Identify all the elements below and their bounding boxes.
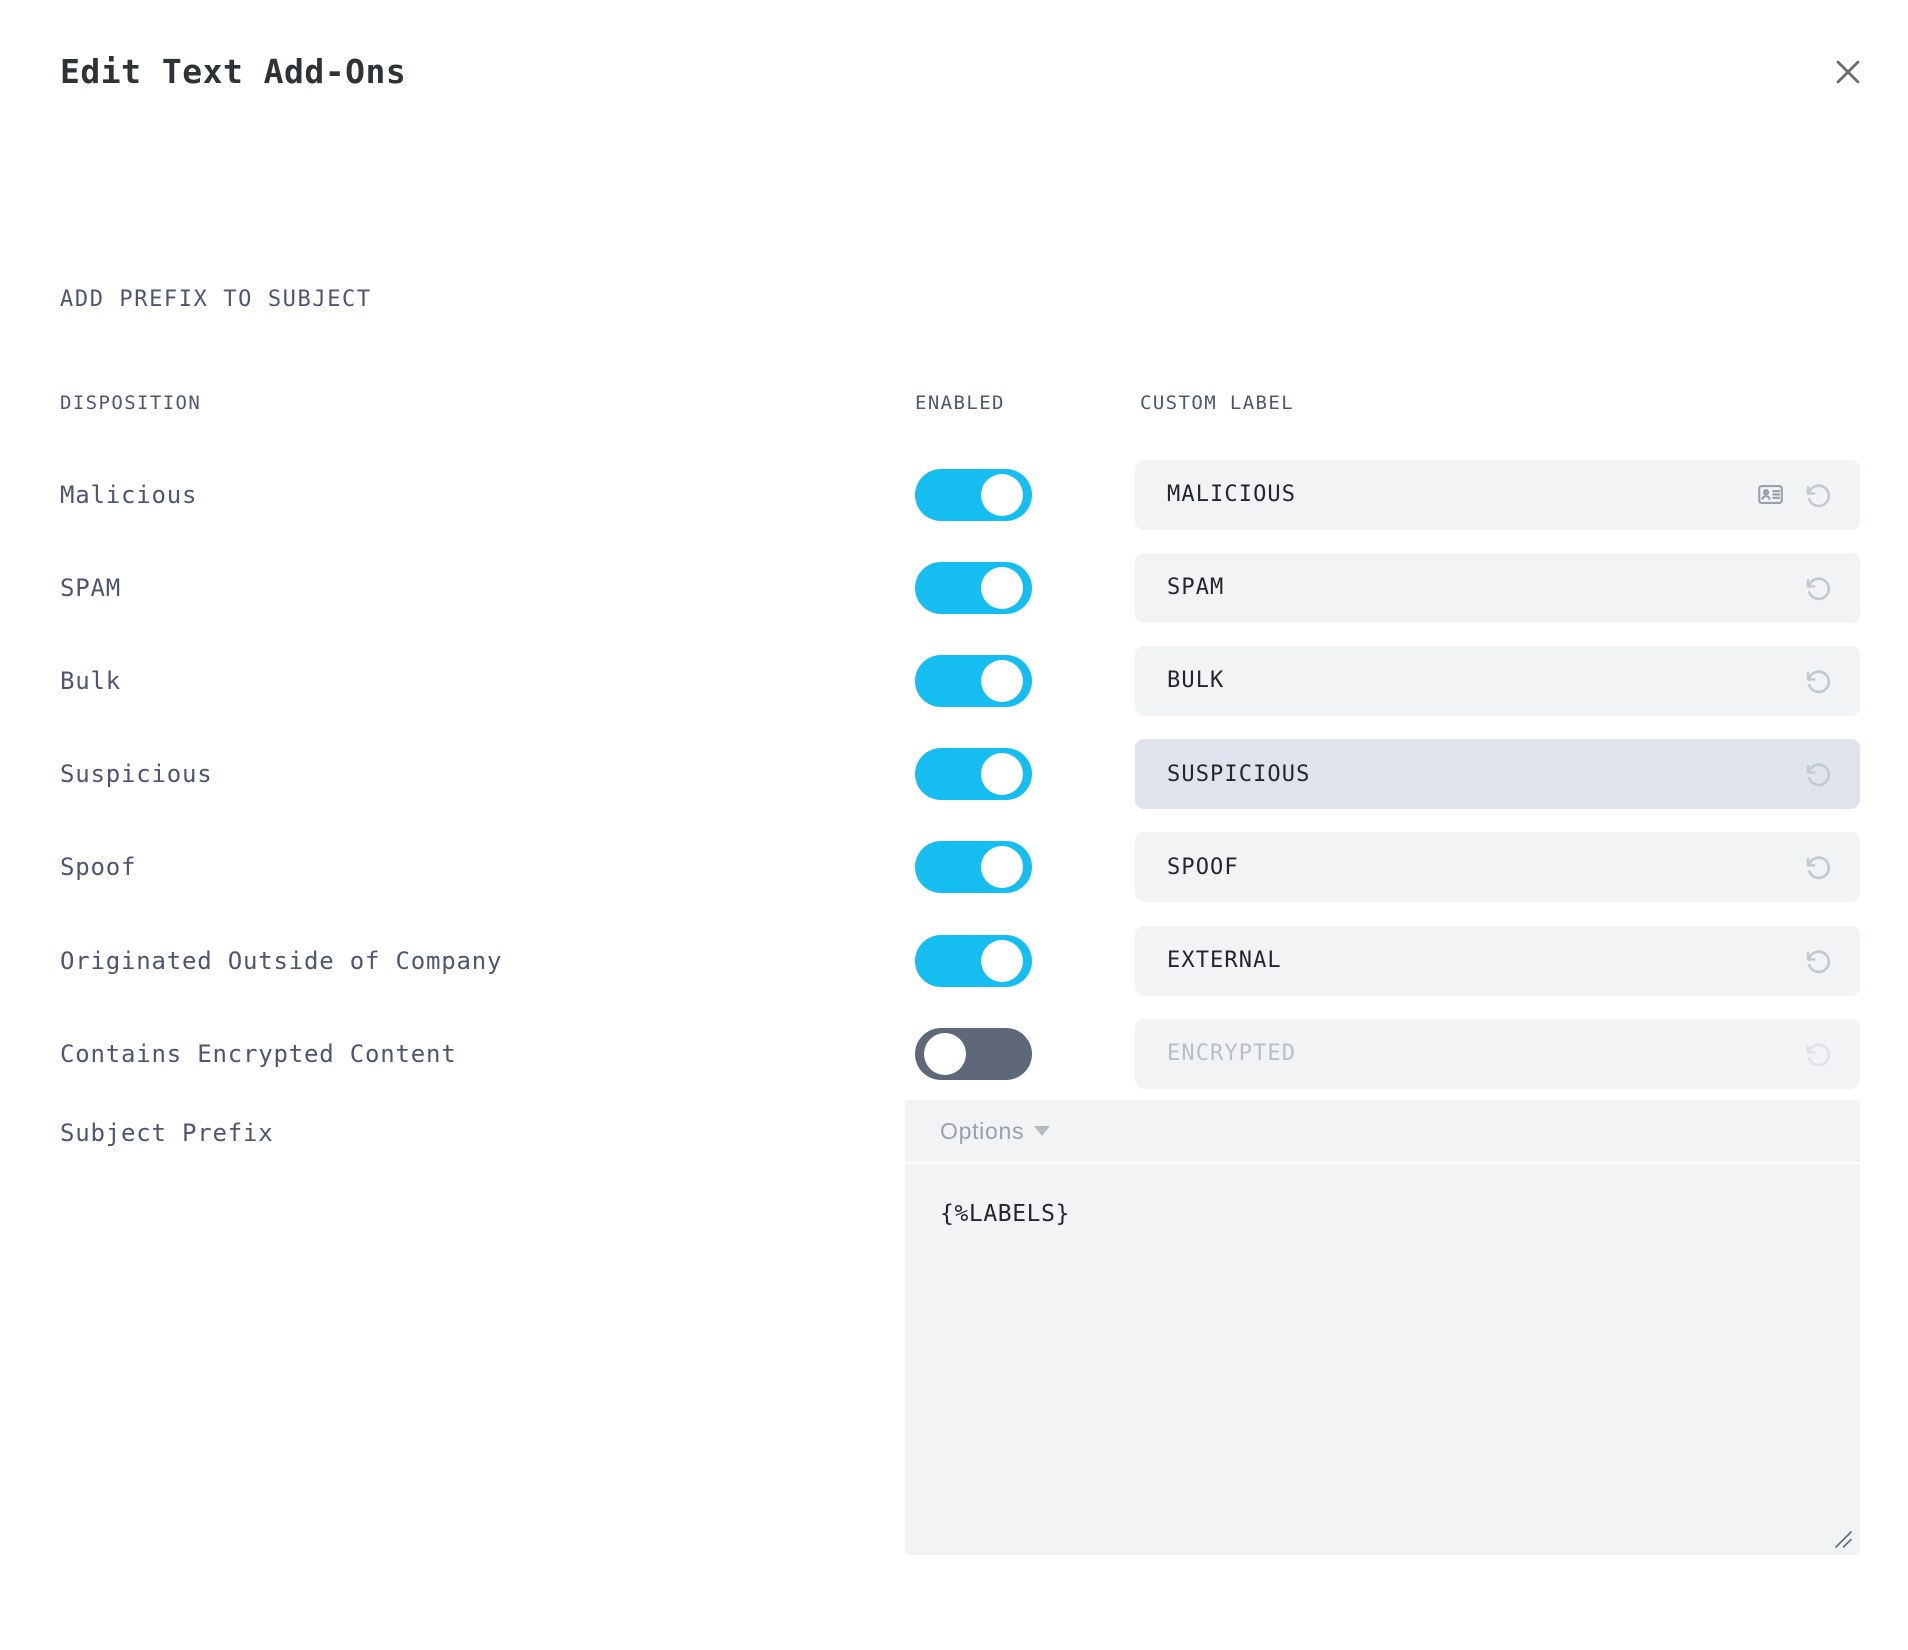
toggle-knob: [924, 1033, 966, 1075]
row-disposition-label: Spoof: [60, 853, 136, 881]
custom-label-input[interactable]: SPAM: [1135, 553, 1860, 623]
reset-icon[interactable]: [1798, 847, 1838, 887]
table-row: BulkBULK: [0, 634, 1908, 727]
dialog-header: Edit Text Add-Ons: [0, 0, 1908, 150]
row-enabled-toggle[interactable]: [915, 935, 1032, 987]
reset-icon[interactable]: [1798, 661, 1838, 701]
reset-icon[interactable]: [1798, 754, 1838, 794]
table-row: Originated Outside of CompanyEXTERNAL: [0, 914, 1908, 1007]
row-disposition-label: Suspicious: [60, 760, 213, 788]
custom-label-value: SUSPICIOUS: [1135, 762, 1798, 787]
toggle-knob: [981, 753, 1023, 795]
custom-label-input[interactable]: ENCRYPTED: [1135, 1019, 1860, 1089]
page-title: Edit Text Add-Ons: [60, 52, 406, 91]
table-row: SpoofSPOOF: [0, 821, 1908, 914]
table-row: MaliciousMALICIOUS: [0, 448, 1908, 541]
contact-card-icon[interactable]: [1750, 475, 1790, 515]
row-enabled-toggle[interactable]: [915, 1028, 1032, 1080]
custom-label-input[interactable]: BULK: [1135, 646, 1860, 716]
field-icon-group: [1798, 661, 1860, 701]
field-icon-group: [1798, 941, 1860, 981]
row-enabled-toggle[interactable]: [915, 841, 1032, 893]
row-disposition-label: Contains Encrypted Content: [60, 1040, 456, 1068]
custom-label-value: MALICIOUS: [1135, 482, 1750, 507]
toggle-knob: [981, 567, 1023, 609]
row-disposition-label: Bulk: [60, 667, 121, 695]
row-disposition-label: SPAM: [60, 574, 121, 602]
row-enabled-toggle[interactable]: [915, 748, 1032, 800]
custom-label-input[interactable]: SPOOF: [1135, 832, 1860, 902]
table-row: SuspiciousSUSPICIOUS: [0, 728, 1908, 821]
row-disposition-label: Malicious: [60, 481, 197, 509]
toggle-knob: [981, 846, 1023, 888]
reset-icon[interactable]: [1798, 1034, 1838, 1074]
chevron-down-icon: [1034, 1126, 1050, 1136]
row-enabled-toggle[interactable]: [915, 562, 1032, 614]
custom-label-value: ENCRYPTED: [1135, 1041, 1798, 1066]
options-toolbar: Options: [905, 1100, 1860, 1162]
reset-icon[interactable]: [1798, 941, 1838, 981]
toggle-knob: [981, 660, 1023, 702]
row-disposition-label: Originated Outside of Company: [60, 947, 502, 975]
section-title: ADD PREFIX TO SUBJECT: [60, 287, 372, 312]
toggle-knob: [981, 474, 1023, 516]
custom-label-input[interactable]: MALICIOUS: [1135, 460, 1860, 530]
resize-handle-icon[interactable]: [1830, 1526, 1854, 1550]
custom-label-value: SPOOF: [1135, 855, 1798, 880]
custom-label-value: BULK: [1135, 668, 1798, 693]
subject-prefix-value: {%LABELS}: [940, 1201, 1070, 1227]
column-header-enabled: ENABLED: [915, 392, 1005, 414]
row-enabled-toggle[interactable]: [915, 469, 1032, 521]
reset-icon[interactable]: [1798, 568, 1838, 608]
reset-icon[interactable]: [1798, 475, 1838, 515]
column-header-disposition: DISPOSITION: [60, 392, 201, 414]
custom-label-input[interactable]: SUSPICIOUS: [1135, 739, 1860, 809]
field-icon-group: [1798, 847, 1860, 887]
options-label: Options: [940, 1118, 1024, 1145]
field-icon-group: [1750, 475, 1860, 515]
field-icon-group: [1798, 754, 1860, 794]
row-enabled-toggle[interactable]: [915, 655, 1032, 707]
custom-label-input[interactable]: EXTERNAL: [1135, 926, 1860, 996]
column-header-custom-label: CUSTOM LABEL: [1140, 392, 1294, 414]
field-icon-group: [1798, 568, 1860, 608]
subject-prefix-textarea[interactable]: {%LABELS}: [905, 1164, 1860, 1555]
field-icon-group: [1798, 1034, 1860, 1074]
options-dropdown-button[interactable]: Options: [940, 1118, 1050, 1145]
subject-prefix-label: Subject Prefix: [60, 1119, 274, 1147]
table-row: SPAMSPAM: [0, 541, 1908, 634]
close-icon: [1831, 55, 1865, 89]
toggle-knob: [981, 940, 1023, 982]
custom-label-value: EXTERNAL: [1135, 948, 1798, 973]
custom-label-value: SPAM: [1135, 575, 1798, 600]
close-button[interactable]: [1816, 40, 1880, 104]
table-row: Contains Encrypted ContentENCRYPTED: [0, 1007, 1908, 1100]
